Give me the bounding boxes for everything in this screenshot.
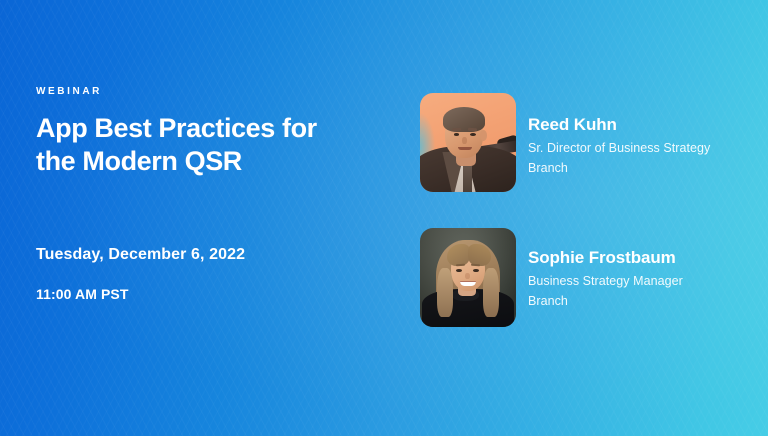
event-details-column: WEBINAR App Best Practices for the Moder… [36,0,406,436]
speaker-info: Sophie Frostbaum Business Strategy Manag… [528,248,750,311]
speaker-role: Sr. Director of Business Strategy [528,139,750,158]
portrait-illustration [420,93,516,192]
reed-kuhn-headshot [420,93,516,192]
speaker-organization: Branch [528,159,750,178]
event-date: Tuesday, December 6, 2022 [36,246,245,264]
title-line-1: App Best Practices for [36,113,317,143]
title-line-2: the Modern QSR [36,146,242,176]
speaker-name: Sophie Frostbaum [528,248,750,268]
sophie-frostbaum-headshot [420,228,516,327]
speaker-organization: Branch [528,292,750,311]
speaker-role: Business Strategy Manager [528,272,750,291]
speaker-info: Reed Kuhn Sr. Director of Business Strat… [528,115,750,178]
event-time: 11:00 AM PST [36,286,129,302]
portrait-illustration [420,228,516,327]
webinar-kicker-label: WEBINAR [36,87,102,97]
speaker-name: Reed Kuhn [528,115,750,135]
page-title: App Best Practices for the Modern QSR [36,112,366,179]
webinar-promo-banner: WEBINAR App Best Practices for the Moder… [0,0,768,436]
